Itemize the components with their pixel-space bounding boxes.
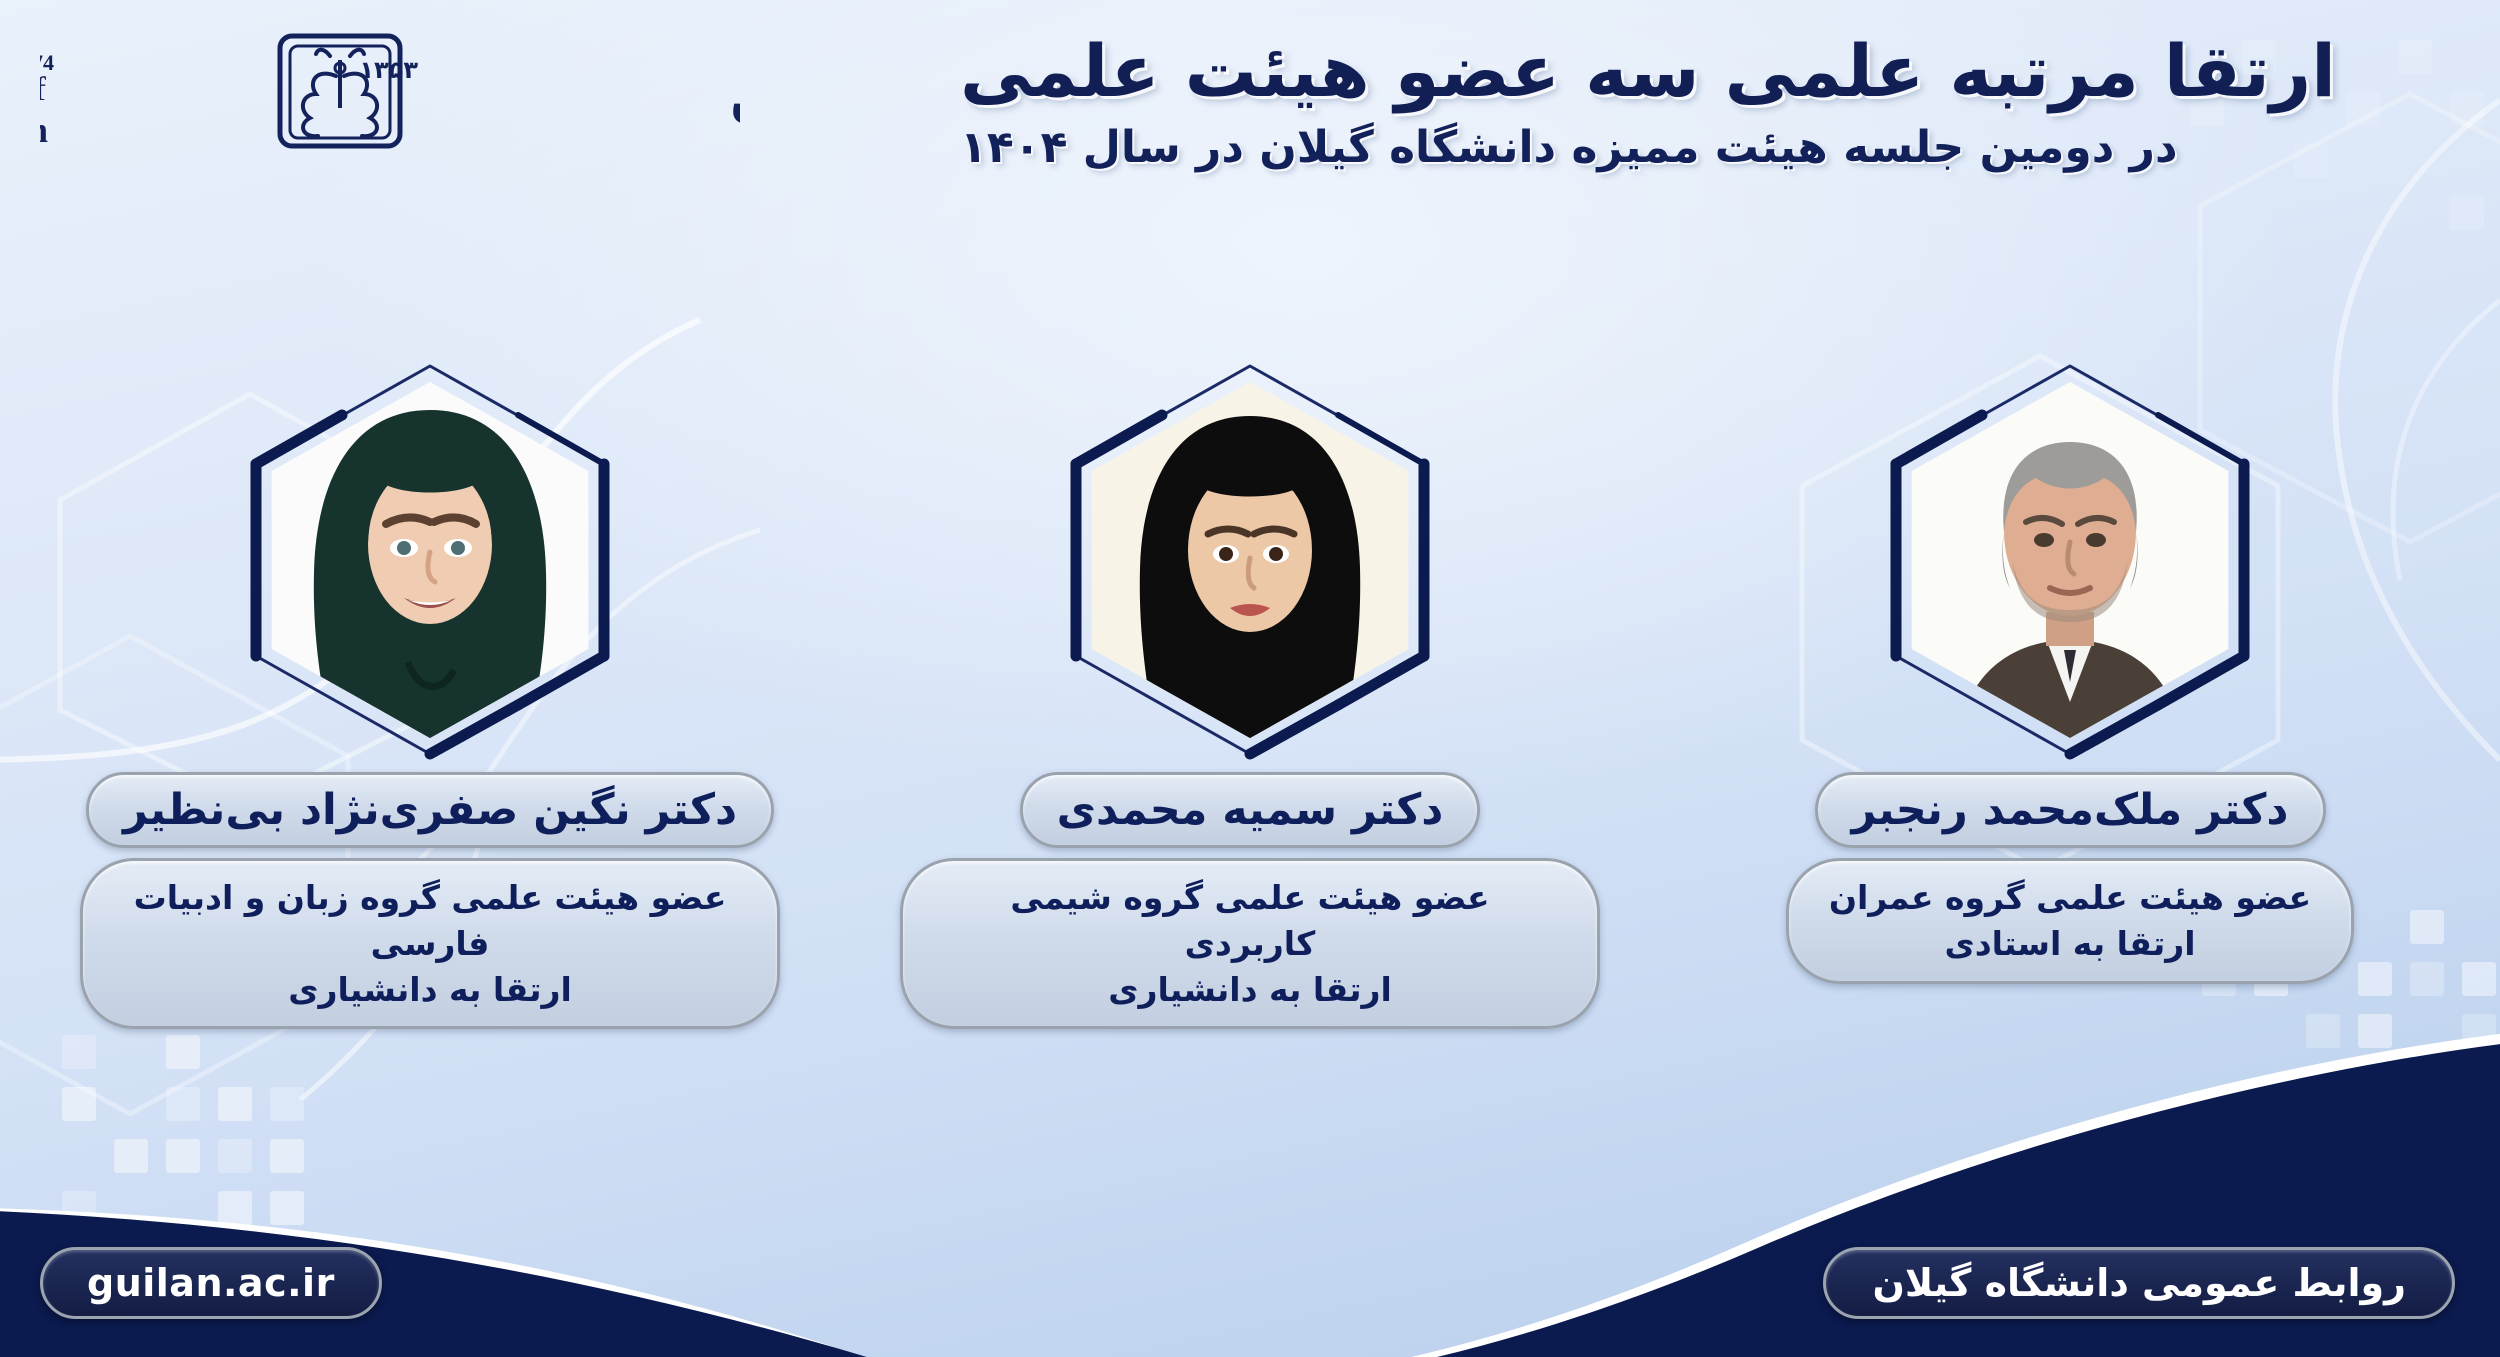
person-role: عضو هیئت علمی گروه شیمی کاربردی ارتقا به… <box>900 858 1600 1029</box>
person-name: دکتر نگین صفری‌نژاد بی‌نظیر <box>86 772 774 848</box>
hexagon-frame-icon <box>230 360 630 760</box>
person-card: دکتر سمیه محمدی عضو هیئت علمی گروه شیمی … <box>900 360 1600 1029</box>
person-card: دکتر نگین صفری‌نژاد بی‌نظیر عضو هیئت علم… <box>80 360 780 1029</box>
title-block: ارتقا مرتبه علمی سه عضو هیئت علمی در دوم… <box>960 30 2440 175</box>
person-name: دکتر ملک‌محمد رنجبر <box>1815 772 2326 848</box>
svg-text:دانشگاه گیلان: دانشگاه گیلان <box>730 68 740 129</box>
main-title: ارتقا مرتبه علمی سه عضو هیئت علمی <box>960 30 2440 114</box>
sub-title: در دومین جلسه هیئت ممیزه دانشگاه گیلان د… <box>960 120 2440 175</box>
guilan-logo-icon: 1974 University of Guilan ۱۳۵۳ دانشگاه گ… <box>40 8 740 168</box>
svg-text:Guilan: Guilan <box>40 110 54 150</box>
hexagon-frame-icon <box>1050 360 1450 760</box>
person-photo-frame <box>230 360 630 760</box>
person-promotion: ارتقا به استادی <box>1829 921 2311 967</box>
public-relations-label: روابط عمومی دانشگاه گیلان <box>1823 1247 2455 1319</box>
person-role-line1: عضو هیئت علمی گروه زبان و ادبیات فارسی <box>134 878 727 963</box>
svg-text:University of: University of <box>40 71 47 108</box>
university-logo: 1974 University of Guilan ۱۳۵۳ دانشگاه گ… <box>40 8 740 168</box>
person-promotion: ارتقا به دانشیاری <box>123 967 737 1013</box>
people-row: دکتر ملک‌محمد رنجبر عضو هیئت علمی گروه ع… <box>0 360 2500 1080</box>
person-role-line1: عضو هیئت علمی گروه عمران <box>1829 878 2311 917</box>
person-promotion: ارتقا به دانشیاری <box>943 967 1557 1013</box>
person-role: عضو هیئت علمی گروه عمران ارتقا به استادی <box>1786 858 2354 983</box>
poster-canvas: 1974 University of Guilan ۱۳۵۳ دانشگاه گ… <box>0 0 2500 1357</box>
person-role-line1: عضو هیئت علمی گروه شیمی کاربردی <box>1010 878 1489 963</box>
person-name: دکتر سمیه محمدی <box>1020 772 1481 848</box>
svg-text:۱۳۵۳: ۱۳۵۳ <box>359 56 418 84</box>
person-card: دکتر ملک‌محمد رنجبر عضو هیئت علمی گروه ع… <box>1720 360 2420 984</box>
website-link[interactable]: guilan.ac.ir <box>40 1247 382 1319</box>
person-photo-frame <box>1870 360 2270 760</box>
person-role: عضو هیئت علمی گروه زبان و ادبیات فارسی ا… <box>80 858 780 1029</box>
person-photo-frame <box>1050 360 1450 760</box>
hexagon-frame-icon <box>1870 360 2270 760</box>
